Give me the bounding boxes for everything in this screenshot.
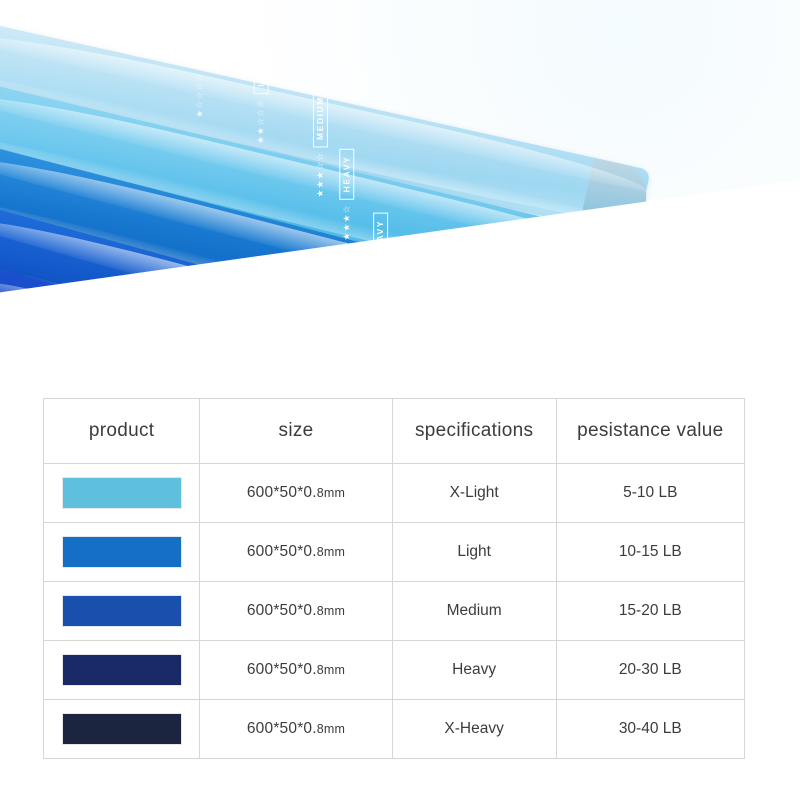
table-header: product size specifications pesistance v… xyxy=(44,399,745,464)
size-value: 600*50*0. xyxy=(247,484,317,501)
size-unit: 8mm xyxy=(317,545,345,559)
cell-size: 600*50*0.8mm xyxy=(200,700,392,759)
size-value: 600*50*0. xyxy=(247,602,317,619)
cell-size: 600*50*0.8mm xyxy=(200,464,392,523)
band-print-mark-light: ★★☆☆☆ LIGHT xyxy=(254,46,269,144)
cell-resistance-value: 20-30 LB xyxy=(556,641,744,700)
column-header-product: product xyxy=(44,399,200,464)
color-swatch xyxy=(62,536,182,568)
band-print-label: LIGHT xyxy=(254,46,269,94)
cell-specification: X-Light xyxy=(392,464,556,523)
band-print-mark-heavy: ★★★★☆ HEAVY xyxy=(339,149,354,250)
size-unit: 8mm xyxy=(317,663,345,677)
size-value: 600*50*0. xyxy=(247,720,317,737)
cell-specification: Heavy xyxy=(392,641,556,700)
cell-resistance-value: 30-40 LB xyxy=(556,700,744,759)
cell-size: 600*50*0.8mm xyxy=(200,641,392,700)
star-rating-icon: ★★★☆☆ xyxy=(316,152,325,197)
table-header-row: product size specifications pesistance v… xyxy=(44,399,745,464)
column-header-specifications: specifications xyxy=(392,399,556,464)
size-value: 600*50*0. xyxy=(247,661,317,678)
size-unit: 8mm xyxy=(317,722,345,736)
cell-product-swatch xyxy=(44,464,200,523)
cell-product-swatch xyxy=(44,641,200,700)
size-unit: 8mm xyxy=(317,604,345,618)
cell-size: 600*50*0.8mm xyxy=(200,523,392,582)
cell-product-swatch xyxy=(44,523,200,582)
cell-size: 600*50*0.8mm xyxy=(200,582,392,641)
table-body: 600*50*0.8mmX-Light5-10 LB600*50*0.8mmLi… xyxy=(44,464,745,759)
star-rating-icon: ★★☆☆☆ xyxy=(256,99,265,144)
color-swatch xyxy=(62,713,182,745)
cell-resistance-value: 5-10 LB xyxy=(556,464,744,523)
cell-resistance-value: 15-20 LB xyxy=(556,582,744,641)
cell-product-swatch xyxy=(44,700,200,759)
band-print-label: MEDIUM xyxy=(313,89,328,147)
cell-specification: Light xyxy=(392,523,556,582)
product-page: ★☆☆☆☆ X-LIGHT ★★☆☆☆ LIGHT ★★★☆☆ MEDIUM ★… xyxy=(0,0,800,800)
cell-resistance-value: 10-15 LB xyxy=(556,523,744,582)
color-swatch xyxy=(62,595,182,627)
cell-specification: Medium xyxy=(392,582,556,641)
cell-product-swatch xyxy=(44,582,200,641)
band-print-label: X-LIGHT xyxy=(193,8,208,67)
table-row: 600*50*0.8mmHeavy20-30 LB xyxy=(44,641,745,700)
band-print-mark-medium: ★★★☆☆ MEDIUM xyxy=(313,89,328,197)
product-photo: ★☆☆☆☆ X-LIGHT ★★☆☆☆ LIGHT ★★★☆☆ MEDIUM ★… xyxy=(0,0,800,378)
specifications-table: product size specifications pesistance v… xyxy=(43,398,745,759)
column-header-size: size xyxy=(200,399,392,464)
color-swatch xyxy=(62,477,182,509)
cell-specification: X-Heavy xyxy=(392,700,556,759)
band-print-label: HEAVY xyxy=(339,149,354,200)
table-row: 600*50*0.8mmX-Light5-10 LB xyxy=(44,464,745,523)
table-row: 600*50*0.8mmMedium15-20 LB xyxy=(44,582,745,641)
table-row: 600*50*0.8mmX-Heavy30-40 LB xyxy=(44,700,745,759)
table-row: 600*50*0.8mmLight10-15 LB xyxy=(44,523,745,582)
size-value: 600*50*0. xyxy=(247,543,317,560)
size-unit: 8mm xyxy=(317,486,345,500)
color-swatch xyxy=(62,654,182,686)
star-rating-icon: ★☆☆☆☆ xyxy=(195,73,204,118)
band-print-mark-x-light: ★☆☆☆☆ X-LIGHT xyxy=(193,8,208,118)
column-header-resistance-value: pesistance value xyxy=(556,399,744,464)
